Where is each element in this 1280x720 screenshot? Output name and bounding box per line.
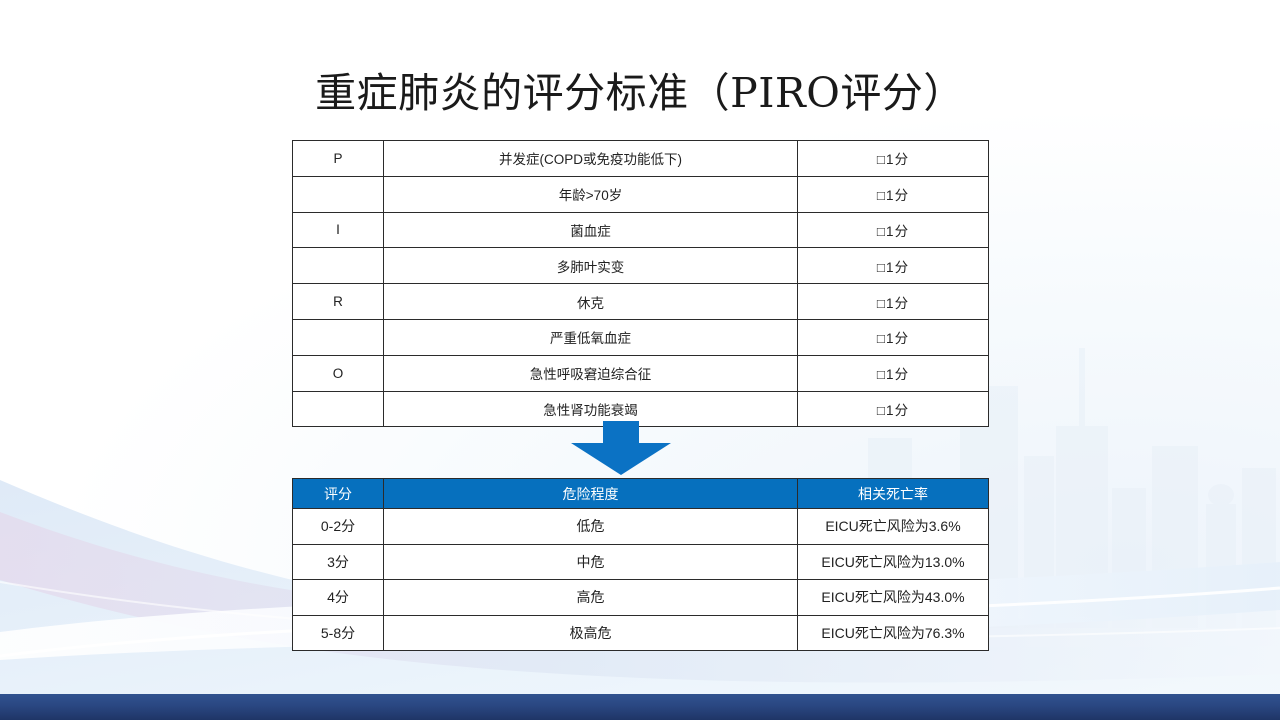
table-row: 年龄>70岁 □1分 <box>293 176 989 212</box>
criteria-key: R <box>293 284 384 320</box>
criteria-desc: 年龄>70岁 <box>384 176 798 212</box>
table-row: 3分 中危 EICU死亡风险为13.0% <box>293 544 989 580</box>
criteria-desc: 并发症(COPD或免疫功能低下) <box>384 141 798 177</box>
slide-content: 重症肺炎的评分标准（PIRO评分） P 并发症(COPD或免疫功能低下) □1分… <box>0 0 1280 720</box>
criteria-desc: 休克 <box>384 284 798 320</box>
column-header-score: 评分 <box>293 479 384 509</box>
risk-mortality: EICU死亡风险为3.6% <box>798 509 989 545</box>
risk-table-body: 0-2分 低危 EICU死亡风险为3.6% 3分 中危 EICU死亡风险为13.… <box>293 509 989 651</box>
criteria-key: P <box>293 141 384 177</box>
risk-score: 5-8分 <box>293 615 384 651</box>
arrow-down-icon <box>567 421 675 475</box>
criteria-score-checkbox[interactable]: □1分 <box>798 319 989 355</box>
risk-mortality: EICU死亡风险为13.0% <box>798 544 989 580</box>
risk-mortality: EICU死亡风险为76.3% <box>798 615 989 651</box>
criteria-desc: 严重低氧血症 <box>384 319 798 355</box>
criteria-key: O <box>293 355 384 391</box>
risk-level: 高危 <box>384 580 798 616</box>
page-title: 重症肺炎的评分标准（PIRO评分） <box>0 69 1280 117</box>
criteria-score-checkbox[interactable]: □1分 <box>798 212 989 248</box>
risk-score: 0-2分 <box>293 509 384 545</box>
criteria-score-checkbox[interactable]: □1分 <box>798 284 989 320</box>
table-row: 5-8分 极高危 EICU死亡风险为76.3% <box>293 615 989 651</box>
risk-score: 3分 <box>293 544 384 580</box>
table-header-row: 评分 危险程度 相关死亡率 <box>293 479 989 509</box>
criteria-key <box>293 391 384 427</box>
criteria-desc: 多肺叶实变 <box>384 248 798 284</box>
piro-risk-table: 评分 危险程度 相关死亡率 0-2分 低危 EICU死亡风险为3.6% 3分 中… <box>292 478 989 651</box>
risk-level: 中危 <box>384 544 798 580</box>
risk-table-header: 评分 危险程度 相关死亡率 <box>293 479 989 509</box>
table-row: R 休克 □1分 <box>293 284 989 320</box>
table-row: P 并发症(COPD或免疫功能低下) □1分 <box>293 141 989 177</box>
criteria-score-checkbox[interactable]: □1分 <box>798 391 989 427</box>
criteria-score-checkbox[interactable]: □1分 <box>798 176 989 212</box>
table-row: 多肺叶实变 □1分 <box>293 248 989 284</box>
table-row: 0-2分 低危 EICU死亡风险为3.6% <box>293 509 989 545</box>
criteria-score-checkbox[interactable]: □1分 <box>798 355 989 391</box>
table-row: O 急性呼吸窘迫综合征 □1分 <box>293 355 989 391</box>
criteria-desc: 菌血症 <box>384 212 798 248</box>
risk-level: 低危 <box>384 509 798 545</box>
table-row: I 菌血症 □1分 <box>293 212 989 248</box>
criteria-key <box>293 248 384 284</box>
risk-mortality: EICU死亡风险为43.0% <box>798 580 989 616</box>
criteria-key <box>293 176 384 212</box>
criteria-score-checkbox[interactable]: □1分 <box>798 141 989 177</box>
piro-criteria-table: P 并发症(COPD或免疫功能低下) □1分 年龄>70岁 □1分 I 菌血症 … <box>292 140 989 427</box>
criteria-score-checkbox[interactable]: □1分 <box>798 248 989 284</box>
column-header-mortality: 相关死亡率 <box>798 479 989 509</box>
criteria-key: I <box>293 212 384 248</box>
criteria-table-body: P 并发症(COPD或免疫功能低下) □1分 年龄>70岁 □1分 I 菌血症 … <box>293 141 989 427</box>
table-row: 严重低氧血症 □1分 <box>293 319 989 355</box>
column-header-level: 危险程度 <box>384 479 798 509</box>
table-row: 4分 高危 EICU死亡风险为43.0% <box>293 580 989 616</box>
criteria-key <box>293 319 384 355</box>
risk-score: 4分 <box>293 580 384 616</box>
criteria-desc: 急性呼吸窘迫综合征 <box>384 355 798 391</box>
risk-level: 极高危 <box>384 615 798 651</box>
